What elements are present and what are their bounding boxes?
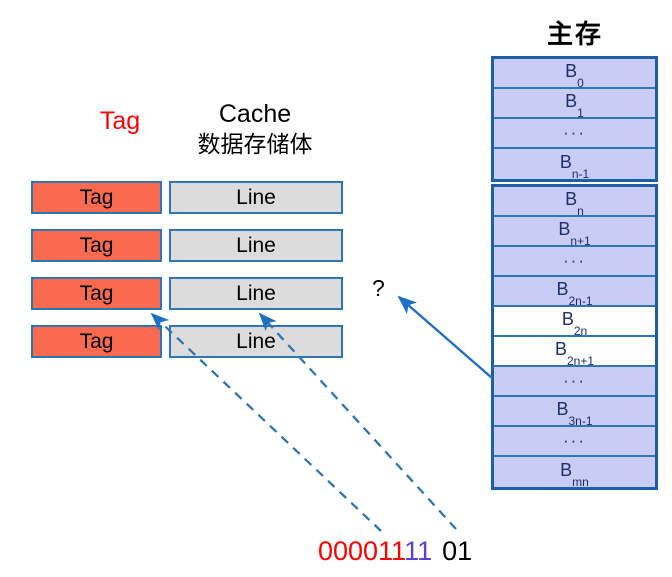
memory-block-cell[interactable]: B3n-1 — [494, 397, 655, 427]
binary-address: 0000111101 — [318, 536, 472, 567]
cache-line-cell-2[interactable]: Line — [169, 277, 343, 310]
cache-tag-label-3: Tag — [80, 330, 114, 354]
cache-line-label-3: Line — [236, 330, 276, 354]
memory-to-question-arrow — [399, 297, 492, 378]
memory-block-cell[interactable]: B1 — [494, 89, 655, 119]
memory-group-0: B0 B1 ··· Bn-1 — [491, 56, 658, 182]
memory-block-label: ··· — [563, 123, 586, 143]
address-offset-bits: 01 — [442, 536, 472, 566]
memory-block-cell[interactable]: B2n-1 — [494, 277, 655, 307]
main-memory-header: 主存 — [491, 14, 659, 51]
memory-block-ellipsis-cell: ··· — [494, 247, 655, 277]
cache-column-header-line2: 数据存储体 — [170, 130, 340, 159]
cache-tag-label-1: Tag — [80, 234, 114, 258]
memory-block-cell[interactable]: Bmn — [494, 457, 655, 487]
memory-block-cell[interactable]: Bn-1 — [494, 149, 655, 179]
cache-line-cell-0[interactable]: Line — [169, 181, 343, 214]
memory-block-label: Bmn — [560, 460, 589, 484]
cache-tag-label-0: Tag — [80, 186, 114, 210]
memory-block-label: Bn — [565, 189, 584, 213]
main-memory-header-label: 主存 — [547, 19, 603, 49]
memory-block-cell[interactable]: Bn+1 — [494, 217, 655, 247]
memory-block-label: Bn-1 — [560, 152, 589, 176]
cache-tag-cell-3[interactable]: Tag — [31, 325, 162, 358]
memory-block-label: B1 — [565, 91, 584, 115]
memory-block-label: Bn+1 — [558, 219, 590, 243]
tag-column-header-label: Tag — [100, 107, 140, 135]
memory-block-label: B2n+1 — [555, 339, 594, 363]
memory-block-label: B2n — [562, 309, 587, 333]
question-mark-label: ? — [372, 275, 385, 302]
cache-column-header: Cache 数据存储体 — [170, 99, 340, 159]
cache-column-header-line1: Cache — [219, 100, 291, 128]
memory-block-cell[interactable]: B0 — [494, 59, 655, 89]
cache-line-label-1: Line — [236, 234, 276, 258]
memory-block-cell-highlighted[interactable]: B2n+1 — [494, 337, 655, 367]
memory-group-1: Bn Bn+1 ··· B2n-1 B2n B2n+1 ··· B3n-1 ··… — [491, 184, 658, 490]
address-index-bits: 11 — [404, 536, 432, 566]
tag-column-header: Tag — [60, 107, 180, 136]
memory-block-label: B0 — [565, 61, 584, 85]
memory-block-ellipsis-cell: ··· — [494, 427, 655, 457]
memory-block-label: ··· — [563, 371, 586, 391]
cache-line-cell-3[interactable]: Line — [169, 325, 343, 358]
cache-line-cell-1[interactable]: Line — [169, 229, 343, 262]
memory-block-label: ··· — [563, 431, 586, 451]
cache-line-label-2: Line — [236, 282, 276, 306]
cache-tag-cell-2[interactable]: Tag — [31, 277, 162, 310]
memory-block-ellipsis-cell: ··· — [494, 367, 655, 397]
cache-mapping-diagram: Tag Cache 数据存储体 主存 Tag Line Tag Line Tag… — [0, 0, 672, 577]
cache-tag-cell-1[interactable]: Tag — [31, 229, 162, 262]
cache-tag-cell-0[interactable]: Tag — [31, 181, 162, 214]
memory-block-label: B2n-1 — [556, 279, 592, 303]
memory-block-ellipsis-cell: ··· — [494, 119, 655, 149]
main-memory-column: B0 B1 ··· Bn-1 Bn Bn+1 ··· B2n-1 B2n B2n… — [491, 56, 658, 490]
cache-tag-label-2: Tag — [80, 282, 114, 306]
memory-block-label: B3n-1 — [556, 399, 592, 423]
cache-line-label-0: Line — [236, 186, 276, 210]
memory-block-label: ··· — [563, 251, 586, 271]
address-tag-bits: 000011 — [318, 536, 404, 566]
memory-block-cell[interactable]: Bn — [494, 187, 655, 217]
memory-block-cell-highlighted[interactable]: B2n — [494, 307, 655, 337]
